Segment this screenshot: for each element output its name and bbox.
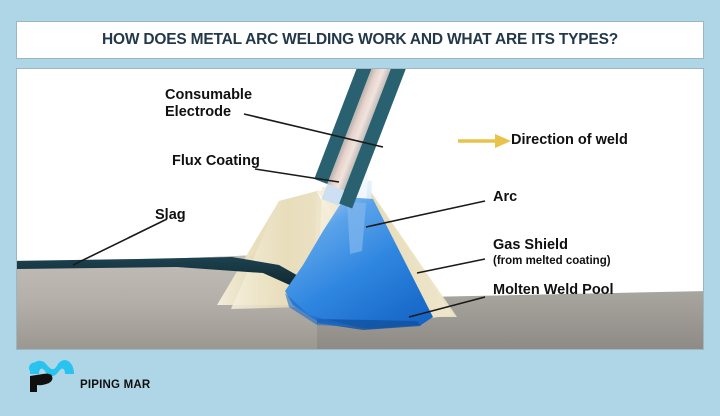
leader-gas-shield — [417, 259, 485, 273]
label-slag: Slag — [155, 207, 186, 224]
label-consumable-electrode-line1: Consumable — [165, 87, 252, 103]
diagram-panel: Consumable Electrode Flux Coating Slag D… — [16, 68, 704, 350]
logo-wordmark: PIPING MART — [80, 379, 150, 391]
leader-slag — [73, 219, 167, 265]
label-flux-coating: Flux Coating — [172, 153, 260, 170]
label-gas-shield-subtitle: (from melted coating) — [493, 254, 611, 268]
welding-illustration — [17, 69, 703, 349]
label-arc: Arc — [493, 189, 517, 206]
label-direction-of-weld: Direction of weld — [511, 132, 628, 149]
label-gas-shield: Gas Shield (from melted coating) — [493, 237, 611, 268]
pipingmart-logo-mark: PIPING MART — [24, 352, 150, 394]
logo[interactable]: PIPING MART — [24, 352, 150, 394]
title-panel: HOW DOES METAL ARC WELDING WORK AND WHAT… — [16, 21, 704, 59]
label-molten-weld-pool: Molten Weld Pool — [493, 282, 614, 299]
label-consumable-electrode-line2: Electrode — [165, 104, 231, 120]
page-title: HOW DOES METAL ARC WELDING WORK AND WHAT… — [102, 31, 618, 49]
label-consumable-electrode: Consumable Electrode — [165, 87, 252, 121]
direction-of-weld-arrow — [458, 134, 511, 148]
label-gas-shield-title: Gas Shield — [493, 237, 568, 253]
